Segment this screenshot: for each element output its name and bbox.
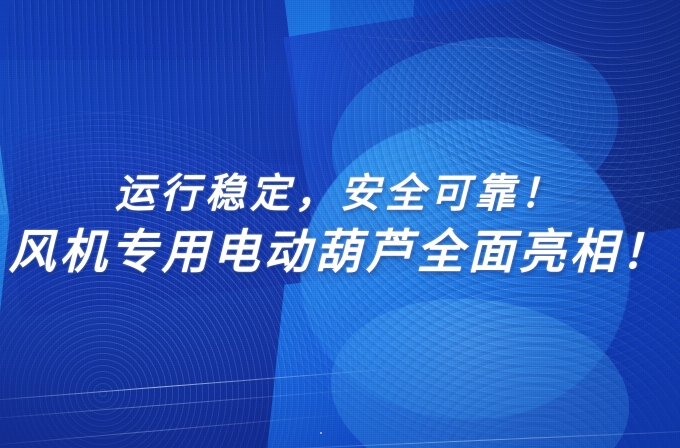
ellipse-lower-highlight [318,280,642,448]
light-streak-bottom-right [240,428,680,448]
color-block-left-light [0,60,310,150]
headline-line-1: 运行稳定，安全可靠！ [0,168,680,220]
color-block-top-left [0,0,330,62]
promo-banner: 运行稳定，安全可靠！ 风机专用电动葫芦全面亮相！ [0,0,680,448]
color-block-top-middle [206,0,414,120]
speck-dot [320,432,322,434]
light-streak-bottom-left-secondary [0,388,379,422]
headline-block: 运行稳定，安全可靠！ 风机专用电动葫芦全面亮相！ [0,168,680,284]
light-streak-bottom-left [0,368,399,404]
light-streak-top-right [301,31,680,67]
headline-line-2: 风机专用电动葫芦全面亮相！ [0,222,680,284]
light-streak-bottom-edge [0,413,349,447]
